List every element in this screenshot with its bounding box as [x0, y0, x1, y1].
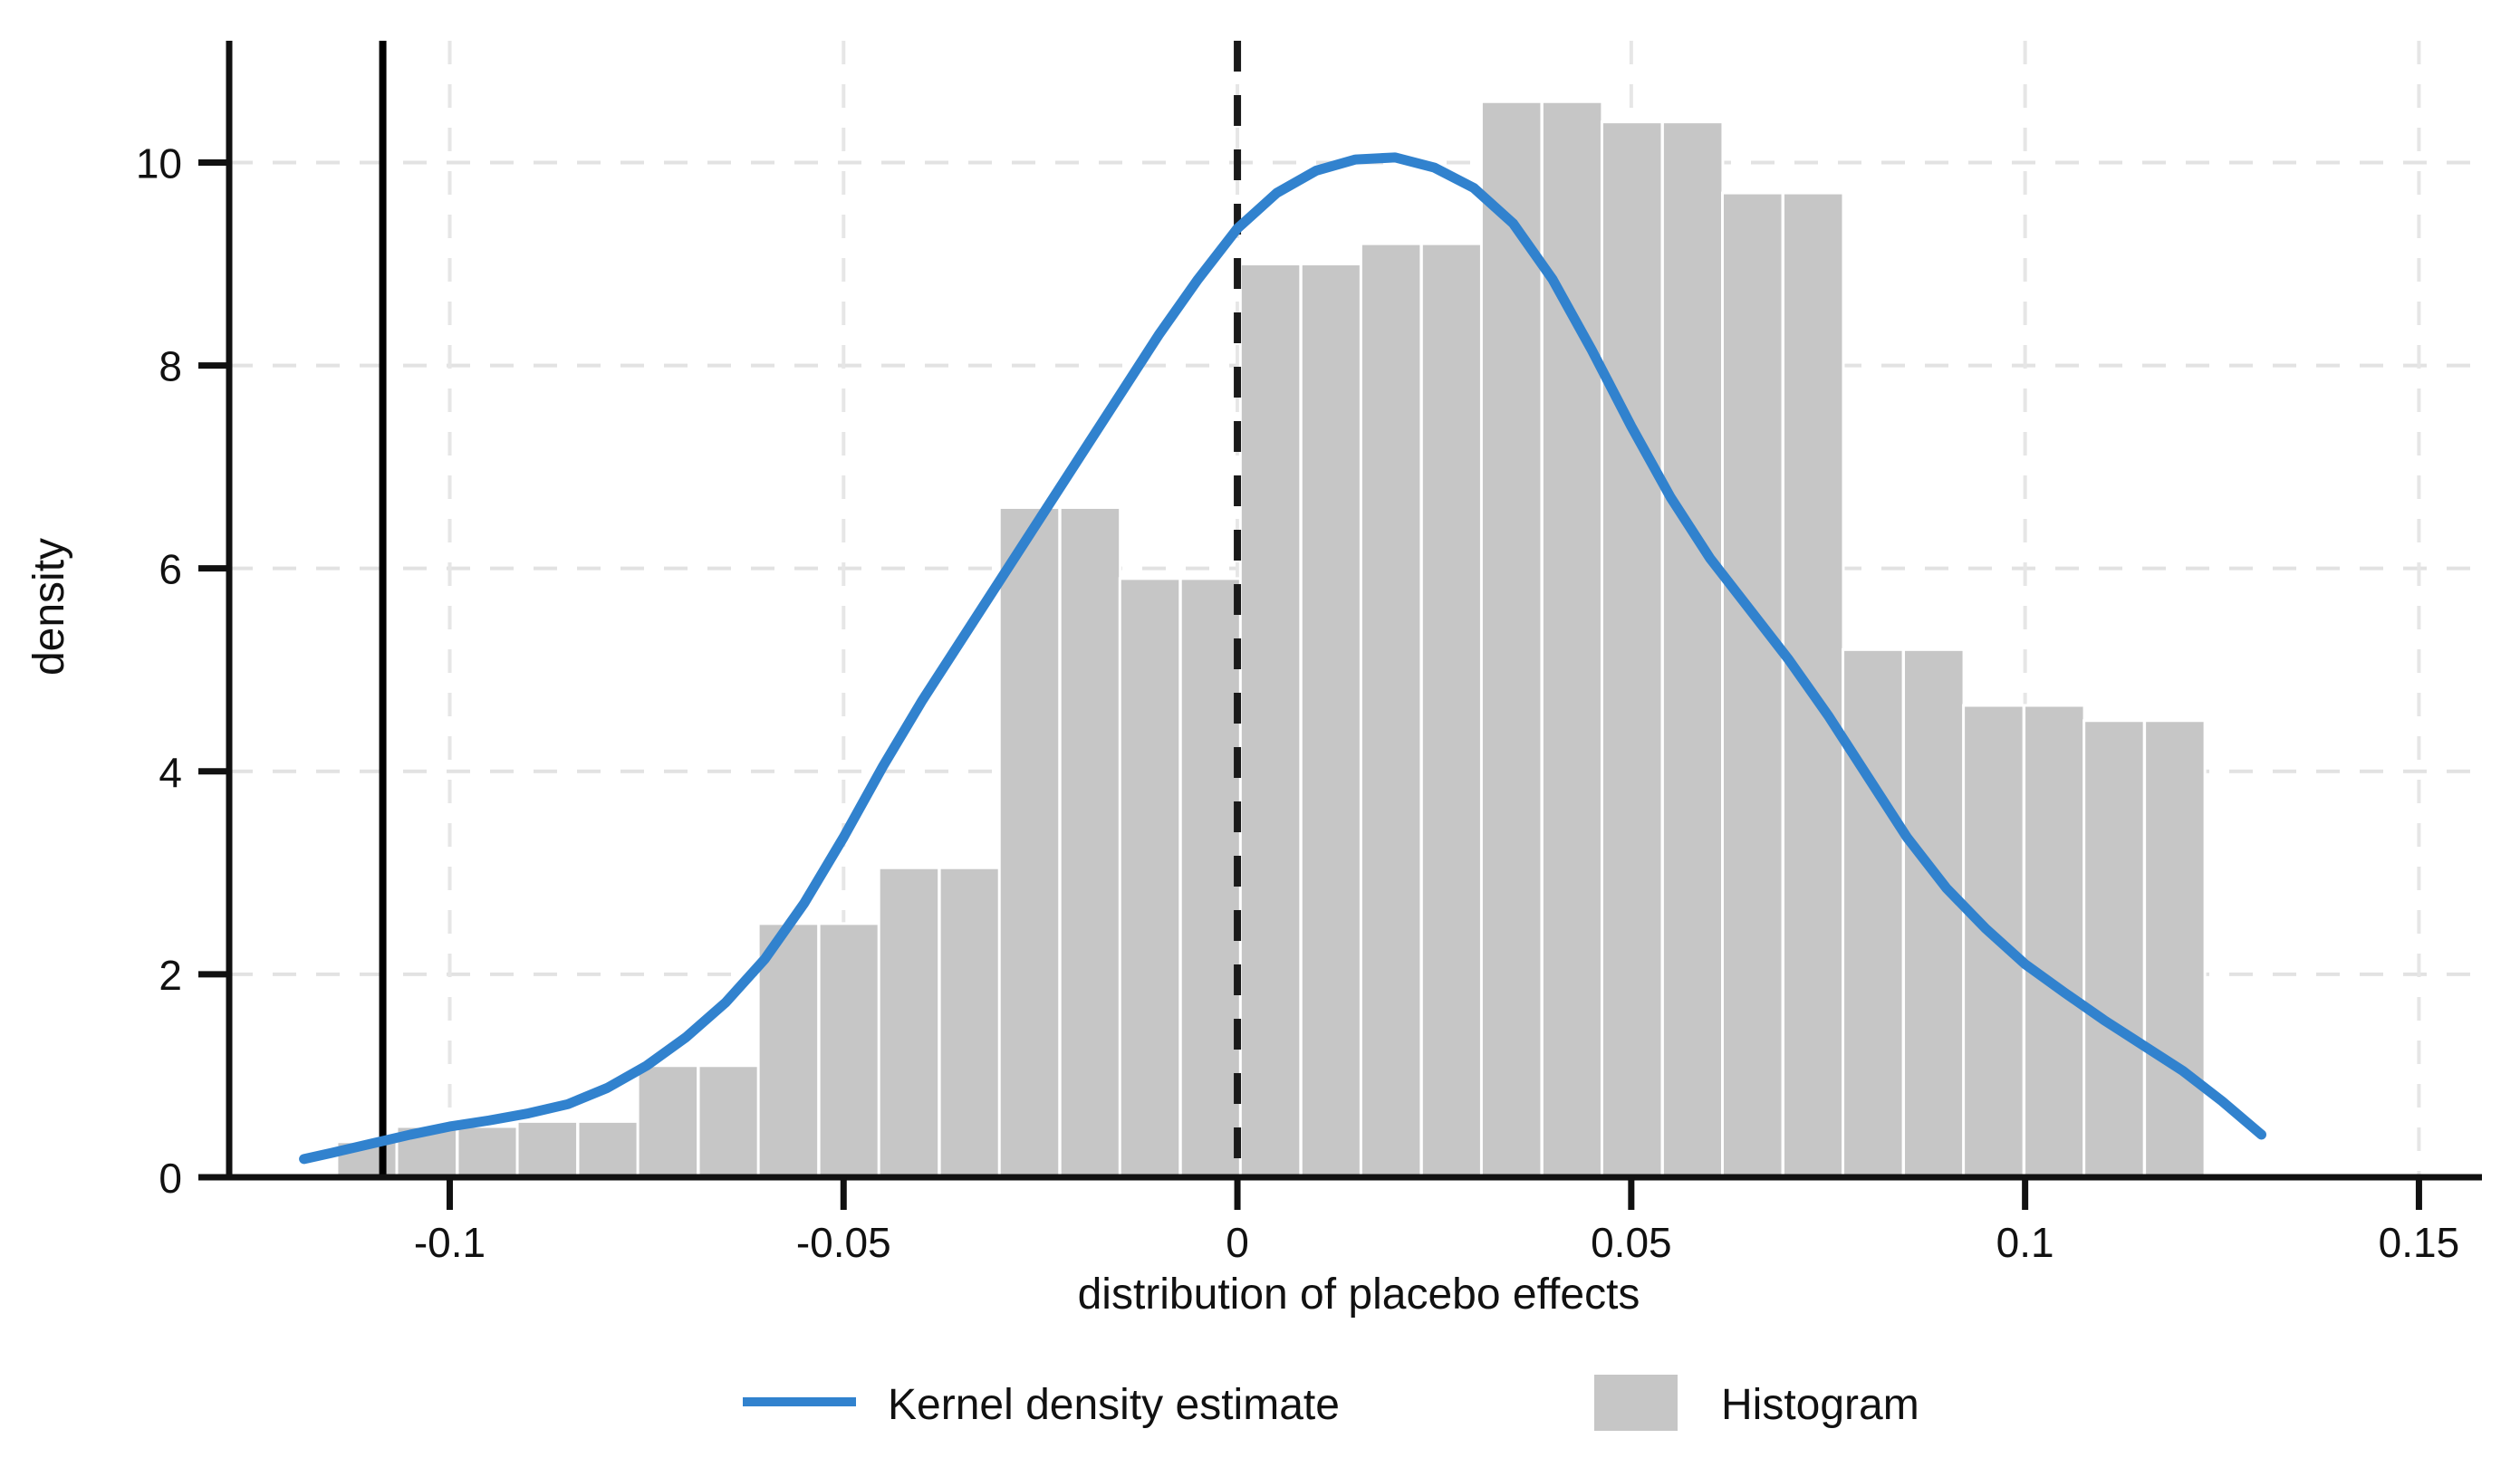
y-axis-tick-label: 0 — [159, 1155, 182, 1202]
histogram-bar — [638, 1066, 698, 1177]
histogram-bar — [2025, 705, 2085, 1177]
histogram-bar — [1301, 264, 1361, 1177]
y-axis-tick-label: 4 — [159, 749, 182, 796]
histogram-bar — [1904, 649, 1965, 1177]
histogram-bar — [999, 507, 1060, 1177]
y-axis-tick-label: 8 — [159, 343, 182, 390]
chart-canvas: 0246810 -0.1-0.0500.050.10.15 density di… — [0, 0, 2520, 1477]
histogram-bar — [1542, 101, 1602, 1177]
histogram-bar — [819, 924, 880, 1177]
histogram-bar — [1060, 507, 1121, 1177]
chart-legend: Kernel density estimate Histogram — [743, 1375, 1919, 1431]
x-axis-tick-label: -0.1 — [414, 1219, 486, 1266]
x-axis-tick-label: 0.15 — [2379, 1219, 2460, 1266]
x-axis-tick-label: -0.05 — [796, 1219, 891, 1266]
histogram-bar — [2084, 721, 2145, 1177]
histogram-bar — [1361, 244, 1421, 1177]
histogram-bar — [879, 868, 939, 1177]
histogram-bar — [1481, 101, 1542, 1177]
histogram-bar — [1601, 122, 1662, 1177]
histogram-bar — [1662, 122, 1723, 1177]
histogram-bar — [939, 868, 1000, 1177]
x-axis-tick-label: 0.1 — [1996, 1219, 2054, 1266]
histogram-bar — [578, 1121, 639, 1177]
histogram-bar — [1120, 579, 1180, 1177]
histogram-bar — [1843, 649, 1904, 1177]
density-plot-figure: 0246810 -0.1-0.0500.050.10.15 density di… — [0, 0, 2520, 1477]
x-axis-tick-label: 0.05 — [1591, 1219, 1672, 1266]
legend-histogram-square-swatch — [1594, 1375, 1678, 1431]
y-axis-title: density — [25, 538, 73, 676]
y-axis-tick-label: 6 — [159, 546, 182, 593]
histogram-bar — [457, 1127, 518, 1177]
histogram-bar — [1783, 193, 1843, 1177]
histogram-bar — [1723, 193, 1784, 1177]
histogram-bar — [698, 1066, 759, 1177]
y-axis-tick-label: 2 — [159, 952, 182, 999]
histogram-bar — [1240, 264, 1301, 1177]
y-axis-tick-label: 10 — [136, 139, 182, 187]
histogram-bar — [517, 1121, 578, 1177]
x-axis-title: distribution of placebo effects — [1078, 1271, 1640, 1319]
legend-histogram-label: Histogram — [1721, 1381, 1919, 1429]
legend-kde-label: Kernel density estimate — [888, 1381, 1340, 1429]
histogram-bar — [1180, 579, 1241, 1177]
histogram-bar — [1421, 244, 1482, 1177]
histogram-bar — [2145, 721, 2206, 1177]
x-axis-tick-label: 0 — [1226, 1219, 1249, 1266]
